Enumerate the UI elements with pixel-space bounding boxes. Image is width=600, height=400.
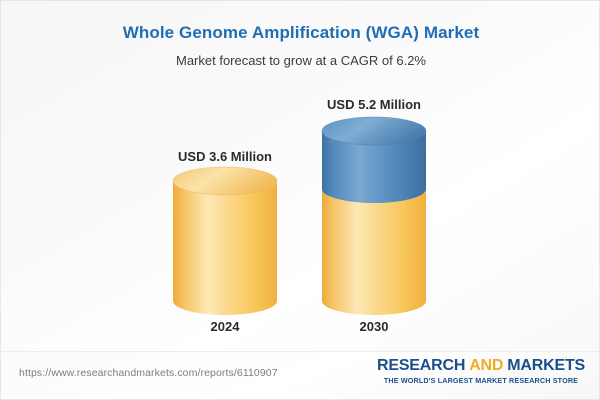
research-and-markets-logo[interactable]: RESEARCHANDMARKETS THE WORLD'S LARGEST M… (377, 358, 585, 385)
logo-wordmark: RESEARCHANDMARKETS (377, 358, 585, 375)
chart-card: Whole Genome Amplification (WGA) Market … (0, 0, 600, 400)
bar-category-label: 2024 (143, 319, 307, 334)
cylinder-2030 (322, 1, 426, 351)
logo-word-markets: MARKETS (507, 357, 585, 374)
report-url[interactable]: https://www.researchandmarkets.com/repor… (19, 367, 278, 379)
logo-tagline: THE WORLD'S LARGEST MARKET RESEARCH STOR… (377, 376, 585, 385)
cylinder-2024 (173, 1, 277, 351)
logo-word-and: AND (469, 357, 503, 374)
logo-word-research: RESEARCH (377, 357, 465, 374)
plot-area: USD 3.6 Million (1, 1, 600, 351)
bar-category-label: 2030 (292, 319, 456, 334)
footer: https://www.researchandmarkets.com/repor… (1, 352, 600, 400)
